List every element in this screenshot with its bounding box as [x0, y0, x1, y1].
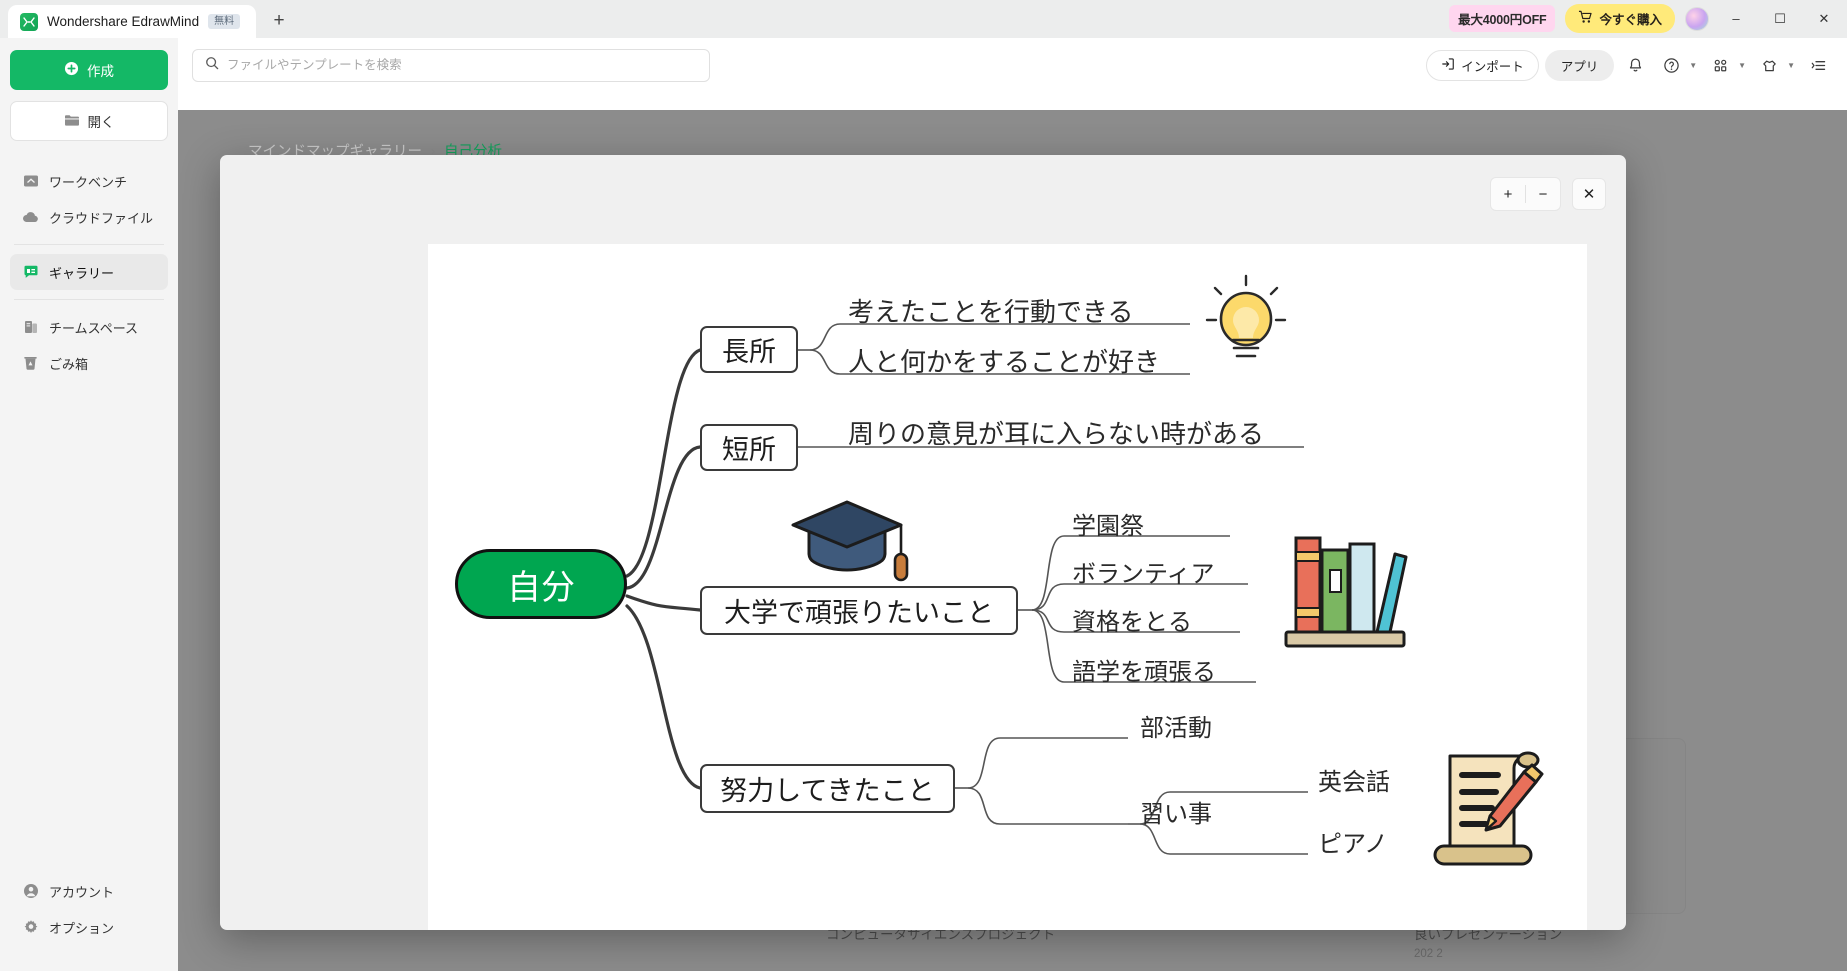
modal-controls: + − ✕: [1490, 177, 1606, 211]
avatar[interactable]: [1685, 7, 1709, 31]
sidebar-item-trash[interactable]: ごみ箱: [10, 345, 168, 381]
app-logo-icon: [20, 13, 38, 31]
promo-badge: 最大4000円OFF: [1449, 5, 1555, 32]
sidebar-item-cloud-files[interactable]: クラウドファイル: [10, 199, 168, 235]
zoom-controls: + −: [1490, 177, 1561, 211]
maximize-button[interactable]: ☐: [1763, 5, 1797, 33]
buy-now-label: 今すぐ購入: [1599, 9, 1662, 28]
search-icon: [205, 56, 219, 75]
graduation-cap-illustration: [791, 492, 936, 597]
create-button[interactable]: 作成: [10, 50, 168, 90]
mindmap-canvas[interactable]: 自分 長所 考えたことを行動できる 人と何かをすることが好き 短所 周りの意見が…: [428, 244, 1587, 930]
mindmap: 自分 長所 考えたことを行動できる 人と何かをすることが好き 短所 周りの意見が…: [428, 244, 1587, 930]
gallery-icon: [22, 264, 39, 281]
sidebar-item-gallery[interactable]: ギャラリー: [10, 254, 168, 290]
import-label: インポート: [1461, 56, 1524, 75]
search-box[interactable]: [192, 49, 710, 82]
cloud-icon: [22, 209, 39, 226]
minimize-button[interactable]: –: [1719, 5, 1753, 33]
mindmap-branch-efforts[interactable]: 努力してきたこと: [700, 764, 955, 813]
scroll-pencil-illustration: [1428, 742, 1548, 872]
theme-chevron-down-icon[interactable]: ▼: [1787, 61, 1795, 70]
mindmap-branch-strengths[interactable]: 長所: [700, 326, 798, 373]
mindmap-leaf[interactable]: ピアノ: [1318, 824, 1388, 862]
search-input[interactable]: [227, 58, 697, 72]
import-icon: [1441, 57, 1455, 74]
sidebar-divider: [14, 244, 164, 245]
new-tab-button[interactable]: +: [266, 8, 292, 32]
close-window-button[interactable]: ✕: [1807, 5, 1841, 33]
title-bar-right: 最大4000円OFF 今すぐ購入 – ☐ ✕: [1449, 5, 1847, 38]
sidebar-item-label: チームスペース: [49, 318, 138, 337]
grid-apps-icon[interactable]: [1705, 50, 1735, 80]
workbench-icon: [22, 173, 39, 190]
lightbulb-illustration: [1203, 272, 1289, 368]
sidebar-item-team-space[interactable]: チームスペース: [10, 309, 168, 345]
title-bar: Wondershare EdrawMind 無料 + 最大4000円OFF 今す…: [0, 0, 1847, 38]
open-label: 開く: [88, 111, 115, 131]
account-icon: [22, 883, 39, 900]
sidebar-item-options[interactable]: オプション: [10, 909, 168, 945]
sidebar-bottom: アカウント オプション: [10, 873, 168, 959]
tab-plan-badge: 無料: [208, 14, 240, 29]
mindmap-leaf[interactable]: 周りの意見が耳に入らない時がある: [848, 414, 1264, 454]
mindmap-branch-weaknesses[interactable]: 短所: [700, 424, 798, 471]
mindmap-leaf[interactable]: 考えたことを行動できる: [848, 292, 1133, 332]
browser-tab[interactable]: Wondershare EdrawMind 無料: [8, 5, 256, 38]
sidebar-item-label: オプション: [49, 918, 114, 937]
import-button[interactable]: インポート: [1426, 50, 1539, 81]
buy-now-button[interactable]: 今すぐ購入: [1565, 4, 1675, 33]
mindmap-root-node[interactable]: 自分: [455, 549, 627, 619]
folder-icon: [64, 113, 80, 130]
books-illustration: [1280, 516, 1410, 656]
open-button[interactable]: 開く: [10, 101, 168, 141]
create-label: 作成: [87, 60, 114, 80]
help-chevron-down-icon[interactable]: ▼: [1689, 61, 1697, 70]
mindmap-leaf[interactable]: 資格をとる: [1072, 602, 1192, 640]
sidebar-item-label: クラウドファイル: [49, 208, 153, 227]
help-icon[interactable]: [1656, 50, 1686, 80]
cart-icon: [1578, 10, 1593, 27]
bell-icon[interactable]: [1620, 50, 1650, 80]
mindmap-leaf[interactable]: 部活動: [1140, 708, 1212, 746]
apps-chevron-down-icon[interactable]: ▼: [1738, 61, 1746, 70]
theme-icon[interactable]: [1754, 50, 1784, 80]
team-icon: [22, 319, 39, 336]
mindmap-leaf[interactable]: 英会話: [1318, 762, 1390, 800]
mindmap-leaf[interactable]: ボランティア: [1072, 554, 1215, 592]
sidebar-item-account[interactable]: アカウント: [10, 873, 168, 909]
sidebar-item-workbench[interactable]: ワークベンチ: [10, 163, 168, 199]
sidebar: 作成 開く ワークベンチ クラウドファイル ギャラリー: [0, 38, 178, 971]
sidebar-item-label: ギャラリー: [49, 263, 114, 282]
close-modal-button[interactable]: ✕: [1572, 178, 1606, 210]
zoom-out-button[interactable]: −: [1526, 178, 1560, 210]
mindmap-leaf[interactable]: 語学を頑張る: [1072, 652, 1216, 690]
apps-button[interactable]: アプリ: [1545, 50, 1615, 81]
toolbar-actions: インポート アプリ ▼ ▼ ▼: [1426, 50, 1833, 81]
template-preview-modal: + − ✕: [220, 155, 1626, 930]
sidebar-item-label: ワークベンチ: [49, 172, 127, 191]
sidebar-item-label: ごみ箱: [49, 354, 88, 373]
mindmap-leaf[interactable]: 習い事: [1140, 794, 1212, 832]
gear-icon: [22, 919, 39, 936]
mindmap-branch-university-goals[interactable]: 大学で頑張りたいこと: [700, 586, 1018, 635]
zoom-in-button[interactable]: +: [1491, 178, 1525, 210]
mindmap-leaf[interactable]: 学園祭: [1072, 506, 1144, 544]
menu-icon[interactable]: [1803, 50, 1833, 80]
sidebar-divider: [14, 299, 164, 300]
tab-title: Wondershare EdrawMind: [47, 14, 199, 29]
sidebar-nav: ワークベンチ クラウドファイル ギャラリー チームスペース ごみ箱: [10, 163, 168, 381]
plus-circle-icon: [64, 61, 79, 79]
top-toolbar: インポート アプリ ▼ ▼ ▼: [178, 38, 1847, 92]
trash-icon: [22, 355, 39, 372]
sidebar-item-label: アカウント: [49, 882, 114, 901]
mindmap-leaf[interactable]: 人と何かをすることが好き: [848, 342, 1160, 382]
